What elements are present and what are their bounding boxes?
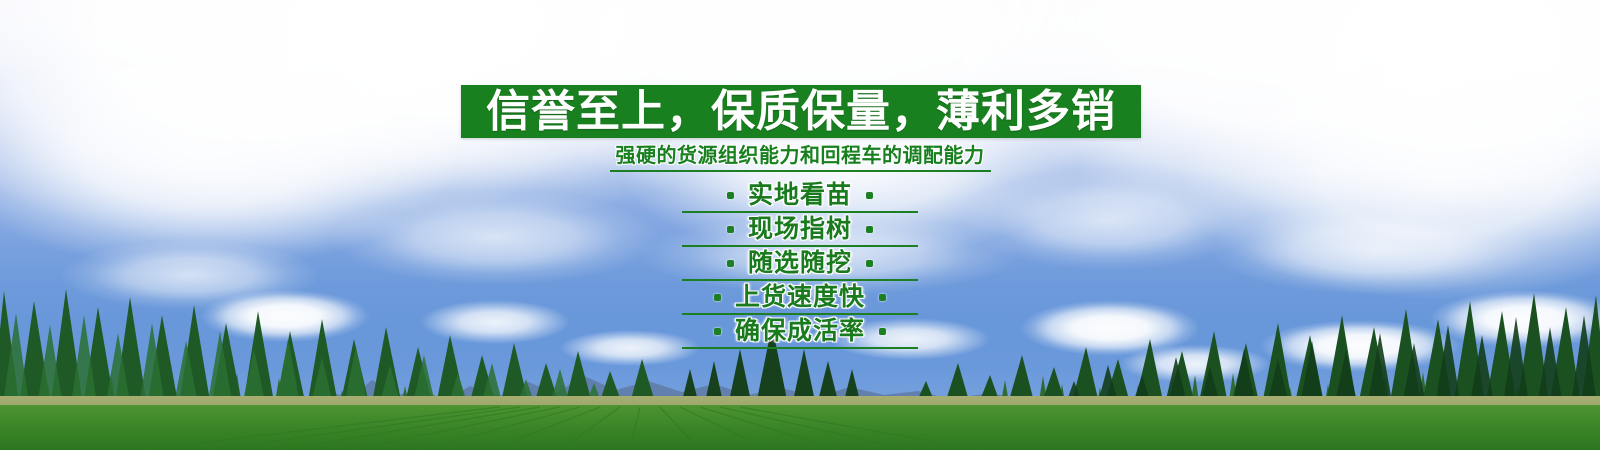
feature-item: 随选随挖 bbox=[0, 246, 1600, 280]
banner-content: 信誉至上，保质保量，薄利多销 强硬的货源组织能力和回程车的调配能力 实地看苗 现… bbox=[0, 0, 1600, 450]
bullet-dot-icon bbox=[866, 192, 873, 199]
bullet-dot-icon bbox=[879, 294, 886, 301]
feature-item: 确保成活率 bbox=[0, 314, 1600, 348]
feature-divider bbox=[682, 347, 918, 349]
bullet-dot-icon bbox=[879, 328, 886, 335]
bullet-dot-icon bbox=[714, 294, 721, 301]
feature-label: 现场指树 bbox=[748, 217, 852, 242]
feature-label: 上货速度快 bbox=[735, 285, 865, 310]
bullet-dot-icon bbox=[727, 226, 734, 233]
promo-banner: 信誉至上，保质保量，薄利多销 强硬的货源组织能力和回程车的调配能力 实地看苗 现… bbox=[0, 0, 1600, 450]
feature-item: 现场指树 bbox=[0, 212, 1600, 246]
feature-label: 实地看苗 bbox=[748, 183, 852, 208]
headline-text: 信誉至上，保质保量，薄利多销 bbox=[486, 90, 1116, 134]
bullet-dot-icon bbox=[714, 328, 721, 335]
bullet-dot-icon bbox=[727, 260, 734, 267]
feature-label: 确保成活率 bbox=[735, 319, 865, 344]
subheadline-wrapper: 强硬的货源组织能力和回程车的调配能力 bbox=[0, 145, 1600, 172]
feature-item: 上货速度快 bbox=[0, 280, 1600, 314]
subheadline-text: 强硬的货源组织能力和回程车的调配能力 bbox=[610, 145, 991, 172]
headline-banner: 信誉至上，保质保量，薄利多销 bbox=[461, 85, 1141, 138]
feature-label: 随选随挖 bbox=[748, 251, 852, 276]
bullet-dot-icon bbox=[866, 226, 873, 233]
bullet-dot-icon bbox=[866, 260, 873, 267]
feature-list: 实地看苗 现场指树 随选随挖 bbox=[0, 178, 1600, 348]
feature-item: 实地看苗 bbox=[0, 178, 1600, 212]
bullet-dot-icon bbox=[727, 192, 734, 199]
